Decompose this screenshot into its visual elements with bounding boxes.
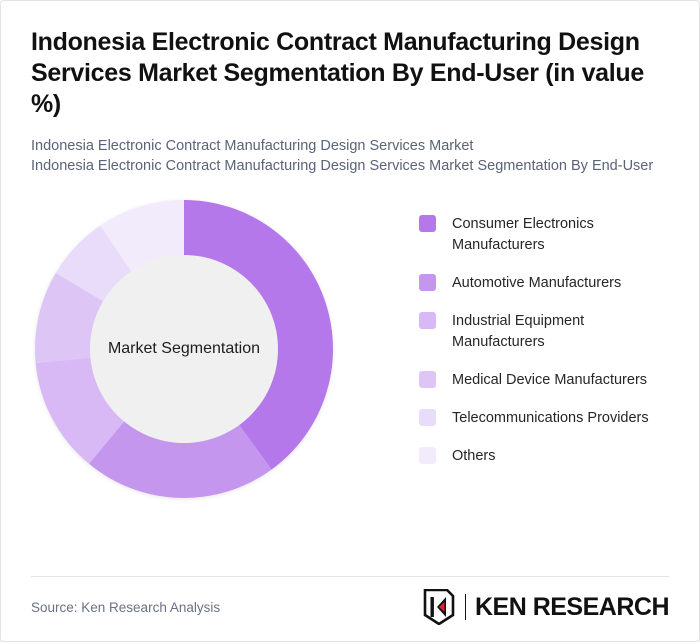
legend-swatch-icon <box>419 274 436 291</box>
logo-divider <box>465 594 466 620</box>
legend-swatch-icon <box>419 371 436 388</box>
legend-item-label: Consumer Electronics Manufacturers <box>452 214 671 256</box>
legend-swatch-icon <box>419 409 436 426</box>
subtitle-line-1: Indonesia Electronic Contract Manufactur… <box>31 136 669 156</box>
ken-research-k-logo-icon <box>422 589 456 625</box>
legend-item-label: Others <box>452 446 496 467</box>
legend-swatch-icon <box>419 312 436 329</box>
chart-legend: Consumer Electronics ManufacturersAutomo… <box>419 214 671 484</box>
chart-header: Indonesia Electronic Contract Manufactur… <box>1 1 699 176</box>
legend-item[interactable]: Others <box>419 446 671 467</box>
legend-item[interactable]: Automotive Manufacturers <box>419 273 671 294</box>
legend-item-label: Industrial Equipment Manufacturers <box>452 311 671 353</box>
chart-card: Indonesia Electronic Contract Manufactur… <box>0 0 700 642</box>
legend-item-label: Automotive Manufacturers <box>452 273 621 294</box>
legend-item-label: Telecommunications Providers <box>452 408 649 429</box>
legend-item[interactable]: Consumer Electronics Manufacturers <box>419 214 671 256</box>
legend-item-label: Medical Device Manufacturers <box>452 370 647 391</box>
subtitle-line-2: Indonesia Electronic Contract Manufactur… <box>31 156 669 176</box>
legend-item[interactable]: Industrial Equipment Manufacturers <box>419 311 671 353</box>
donut-chart-svg <box>34 199 334 499</box>
donut-chart: Market Segmentation <box>34 199 334 499</box>
chart-footer: Source: Ken Research Analysis KEN RESEAR… <box>31 589 669 625</box>
legend-swatch-icon <box>419 447 436 464</box>
footer-divider <box>31 576 669 577</box>
brand-name: KEN RESEARCH <box>475 593 669 622</box>
page-title: Indonesia Electronic Contract Manufactur… <box>31 27 669 120</box>
breadcrumb: Indonesia Electronic Contract Manufactur… <box>31 136 669 176</box>
ken-research-logo: KEN RESEARCH <box>422 589 669 625</box>
legend-swatch-icon <box>419 215 436 232</box>
legend-item[interactable]: Medical Device Manufacturers <box>419 370 671 391</box>
source-note: Source: Ken Research Analysis <box>31 600 220 615</box>
legend-item[interactable]: Telecommunications Providers <box>419 408 671 429</box>
plot-area: Market Segmentation Consumer Electronics… <box>1 192 699 537</box>
donut-hole <box>90 255 278 443</box>
